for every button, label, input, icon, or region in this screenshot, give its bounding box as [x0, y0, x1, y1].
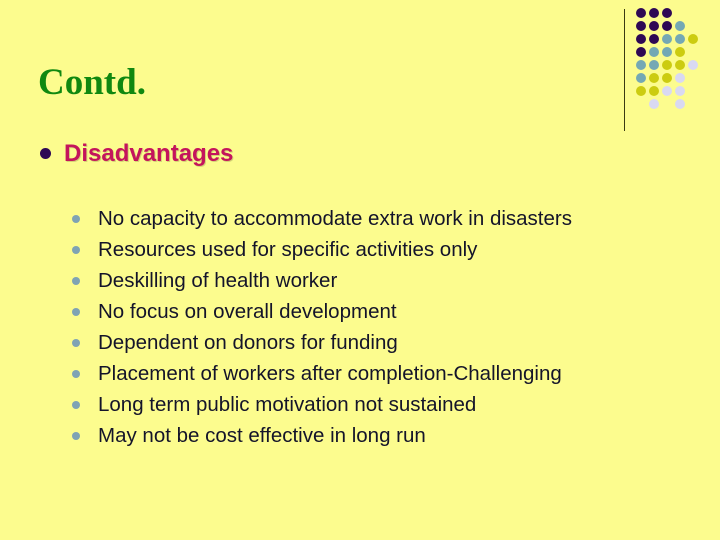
- dot-olive-icon: [662, 60, 672, 70]
- dot-none-icon: [688, 99, 698, 109]
- dot-lavender-icon: [649, 99, 659, 109]
- decorative-dot-grid-motif: [612, 0, 720, 140]
- list-item-label: Deskilling of health worker: [98, 268, 337, 294]
- dot-purple-icon: [662, 21, 672, 31]
- dot-grid: [636, 8, 720, 120]
- dot-olive-icon: [675, 60, 685, 70]
- list-item: May not be cost effective in long run: [72, 423, 672, 454]
- dot-grid-row: [636, 8, 720, 21]
- list-item: No capacity to accommodate extra work in…: [72, 206, 672, 237]
- dot-teal-icon: [636, 73, 646, 83]
- dot-olive-icon: [662, 73, 672, 83]
- bullet-dot-icon: [40, 148, 51, 159]
- bullet-dot-icon: [72, 215, 80, 223]
- dot-grid-row: [636, 60, 720, 73]
- bullet-dot-icon: [72, 339, 80, 347]
- list-item: Long term public motivation not sustaine…: [72, 392, 672, 423]
- bullet-list: No capacity to accommodate extra work in…: [72, 206, 672, 454]
- dot-teal-icon: [662, 34, 672, 44]
- dot-none-icon: [688, 86, 698, 96]
- dot-olive-icon: [675, 47, 685, 57]
- dot-olive-icon: [688, 34, 698, 44]
- dot-lavender-icon: [675, 99, 685, 109]
- dot-teal-icon: [675, 34, 685, 44]
- list-item-label: No capacity to accommodate extra work in…: [98, 206, 572, 232]
- dot-grid-row: [636, 86, 720, 99]
- dot-grid-row: [636, 73, 720, 86]
- dot-grid-row: [636, 47, 720, 60]
- dot-olive-icon: [636, 86, 646, 96]
- dot-lavender-icon: [688, 60, 698, 70]
- list-item: Dependent on donors for funding: [72, 330, 672, 361]
- dot-none-icon: [688, 47, 698, 57]
- dot-grid-row: [636, 34, 720, 47]
- dot-none-icon: [688, 21, 698, 31]
- bullet-dot-icon: [72, 277, 80, 285]
- list-item-label: No focus on overall development: [98, 299, 397, 325]
- bullet-dot-icon: [72, 308, 80, 316]
- page-title: Contd.: [38, 61, 146, 105]
- vertical-rule-divider: [624, 9, 625, 131]
- dot-purple-icon: [662, 8, 672, 18]
- list-item: Deskilling of health worker: [72, 268, 672, 299]
- bullet-dot-icon: [72, 370, 80, 378]
- list-item: No focus on overall development: [72, 299, 672, 330]
- section-heading-label: Disadvantages: [64, 140, 233, 168]
- section-heading-bullet: Disadvantages: [40, 140, 233, 168]
- dot-teal-icon: [636, 60, 646, 70]
- dot-teal-icon: [662, 47, 672, 57]
- dot-purple-icon: [649, 21, 659, 31]
- dot-purple-icon: [636, 21, 646, 31]
- dot-none-icon: [688, 8, 698, 18]
- dot-olive-icon: [649, 86, 659, 96]
- dot-olive-icon: [649, 73, 659, 83]
- list-item: Placement of workers after completion-Ch…: [72, 361, 672, 392]
- dot-teal-icon: [649, 47, 659, 57]
- bullet-dot-icon: [72, 432, 80, 440]
- bullet-dot-icon: [72, 246, 80, 254]
- list-item-label: Dependent on donors for funding: [98, 330, 398, 356]
- dot-purple-icon: [649, 8, 659, 18]
- dot-none-icon: [636, 99, 646, 109]
- dot-purple-icon: [636, 34, 646, 44]
- dot-grid-row: [636, 21, 720, 34]
- dot-lavender-icon: [675, 86, 685, 96]
- dot-none-icon: [662, 99, 672, 109]
- bullet-dot-icon: [72, 401, 80, 409]
- list-item-label: Resources used for specific activities o…: [98, 237, 477, 263]
- presentation-slide: Contd. Disadvantages No capacity to acco…: [0, 0, 720, 540]
- dot-none-icon: [675, 8, 685, 18]
- dot-grid-row: [636, 99, 720, 112]
- list-item-label: Long term public motivation not sustaine…: [98, 392, 476, 418]
- dot-teal-icon: [675, 21, 685, 31]
- list-item: Resources used for specific activities o…: [72, 237, 672, 268]
- dot-none-icon: [688, 73, 698, 83]
- dot-lavender-icon: [662, 86, 672, 96]
- dot-purple-icon: [636, 8, 646, 18]
- dot-purple-icon: [649, 34, 659, 44]
- list-item-label: Placement of workers after completion-Ch…: [98, 361, 562, 387]
- dot-lavender-icon: [675, 73, 685, 83]
- list-item-label: May not be cost effective in long run: [98, 423, 426, 449]
- dot-purple-icon: [636, 47, 646, 57]
- dot-teal-icon: [649, 60, 659, 70]
